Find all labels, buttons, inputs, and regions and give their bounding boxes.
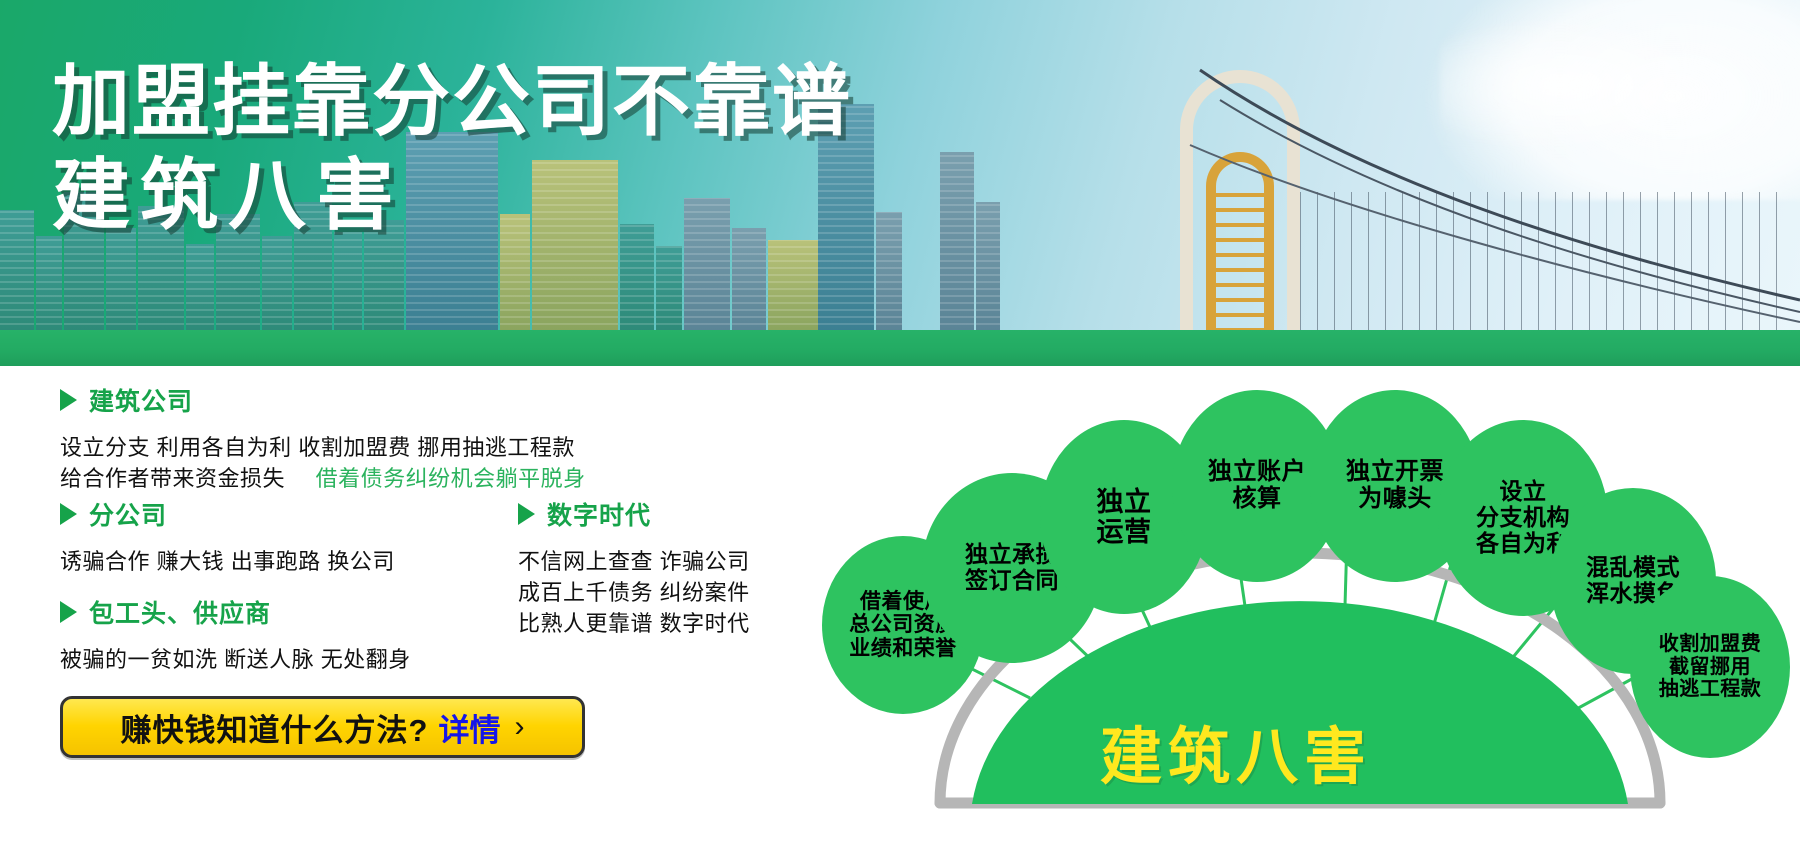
banner-title: 加盟挂靠分公司不靠谱 建筑八害 (52, 62, 852, 235)
cta-details-link[interactable]: 详情 (438, 705, 500, 750)
eight-harms-diagram: 建筑八害 借着使用 总公司资质 业绩和荣誉 独立承揽 签订合同 独立 运营 独立… (800, 338, 1800, 844)
section-body: 被骗的一贫如洗 断送人脉 无处翻身 (60, 644, 411, 675)
section-digital-era: 数字时代 不信网上查查 诈骗公司 成百上千债务 纠纷案件 比熟人更靠谱 数字时代 (518, 496, 750, 640)
hero-banner: 加盟挂靠分公司不靠谱 建筑八害 (0, 0, 1800, 366)
section-construction-company: 建筑公司 设立分支 利用各自为利 收割加盟费 挪用抽逃工程款 给合作者带来资金损… (60, 382, 586, 494)
section-body: 设立分支 利用各自为利 收割加盟费 挪用抽逃工程款 给合作者带来资金损失 借着债… (60, 432, 586, 494)
banner-title-line-2: 建筑八害 (52, 156, 852, 236)
section-body-line-1: 诱骗合作 赚大钱 出事跑路 换公司 (60, 546, 395, 577)
poster-root: 加盟挂靠分公司不靠谱 建筑八害 建筑公司 设立分支 利用各自为利 收割加盟费 挪… (0, 0, 1800, 844)
bridge-main-cables (1160, 60, 1800, 340)
triangle-bullet-icon (60, 389, 77, 411)
cta-button-label: 赚快钱知道什么方法? (121, 705, 429, 750)
left-content-column: 建筑公司 设立分支 利用各自为利 收割加盟费 挪用抽逃工程款 给合作者带来资金损… (0, 366, 800, 844)
bubble-text: 独立 运营 (1097, 487, 1152, 547)
bubble-text: 独立账户 核算 (1208, 459, 1306, 513)
section-body: 诱骗合作 赚大钱 出事跑路 换公司 (60, 546, 395, 577)
triangle-bullet-icon (60, 601, 77, 623)
bubble-text: 收割加盟费 截留挪用 抽逃工程款 (1659, 633, 1762, 700)
section-heading-label: 分公司 (89, 496, 167, 532)
section-body-line-2: 给合作者带来资金损失 借着债务纠纷机会躺平脱身 (60, 463, 586, 494)
section-body-line-2: 成百上千债务 纠纷案件 (518, 577, 750, 608)
section-heading: 建筑公司 (60, 382, 586, 418)
cta-button[interactable]: 赚快钱知道什么方法? 详情 › (60, 696, 585, 758)
banner-title-line-1: 加盟挂靠分公司不靠谱 (52, 62, 852, 142)
dome-center-label: 建筑八害 (1100, 706, 1372, 796)
section-heading-label: 数字时代 (547, 496, 651, 532)
section-heading-label: 包工头、供应商 (89, 594, 271, 630)
section-body-line-1: 不信网上查查 诈骗公司 (518, 546, 750, 577)
chevron-right-icon: › (514, 710, 524, 744)
section-body-line-3: 比熟人更靠谱 数字时代 (518, 608, 750, 639)
triangle-bullet-icon (518, 503, 535, 525)
section-branch-company: 分公司 诱骗合作 赚大钱 出事跑路 换公司 (60, 496, 395, 577)
section-heading-label: 建筑公司 (89, 382, 193, 418)
section-heading: 分公司 (60, 496, 395, 532)
section-body-line-1: 被骗的一贫如洗 断送人脉 无处翻身 (60, 644, 411, 675)
section-body-line-2-green: 借着债务纠纷机会躺平脱身 (316, 466, 586, 491)
triangle-bullet-icon (60, 503, 77, 525)
bubble-harvest-franchise-fee[interactable]: 收割加盟费 截留挪用 抽逃工程款 (1630, 576, 1790, 758)
section-heading: 数字时代 (518, 496, 750, 532)
section-body-line-2-black: 给合作者带来资金损失 (60, 466, 285, 491)
section-contractor-supplier: 包工头、供应商 被骗的一贫如洗 断送人脉 无处翻身 (60, 594, 411, 675)
section-heading: 包工头、供应商 (60, 594, 411, 630)
bubble-text: 独立开票 为噱头 (1346, 459, 1444, 513)
section-body: 不信网上查查 诈骗公司 成百上千债务 纠纷案件 比熟人更靠谱 数字时代 (518, 546, 750, 640)
section-body-line-1: 设立分支 利用各自为利 收割加盟费 挪用抽逃工程款 (60, 432, 586, 463)
